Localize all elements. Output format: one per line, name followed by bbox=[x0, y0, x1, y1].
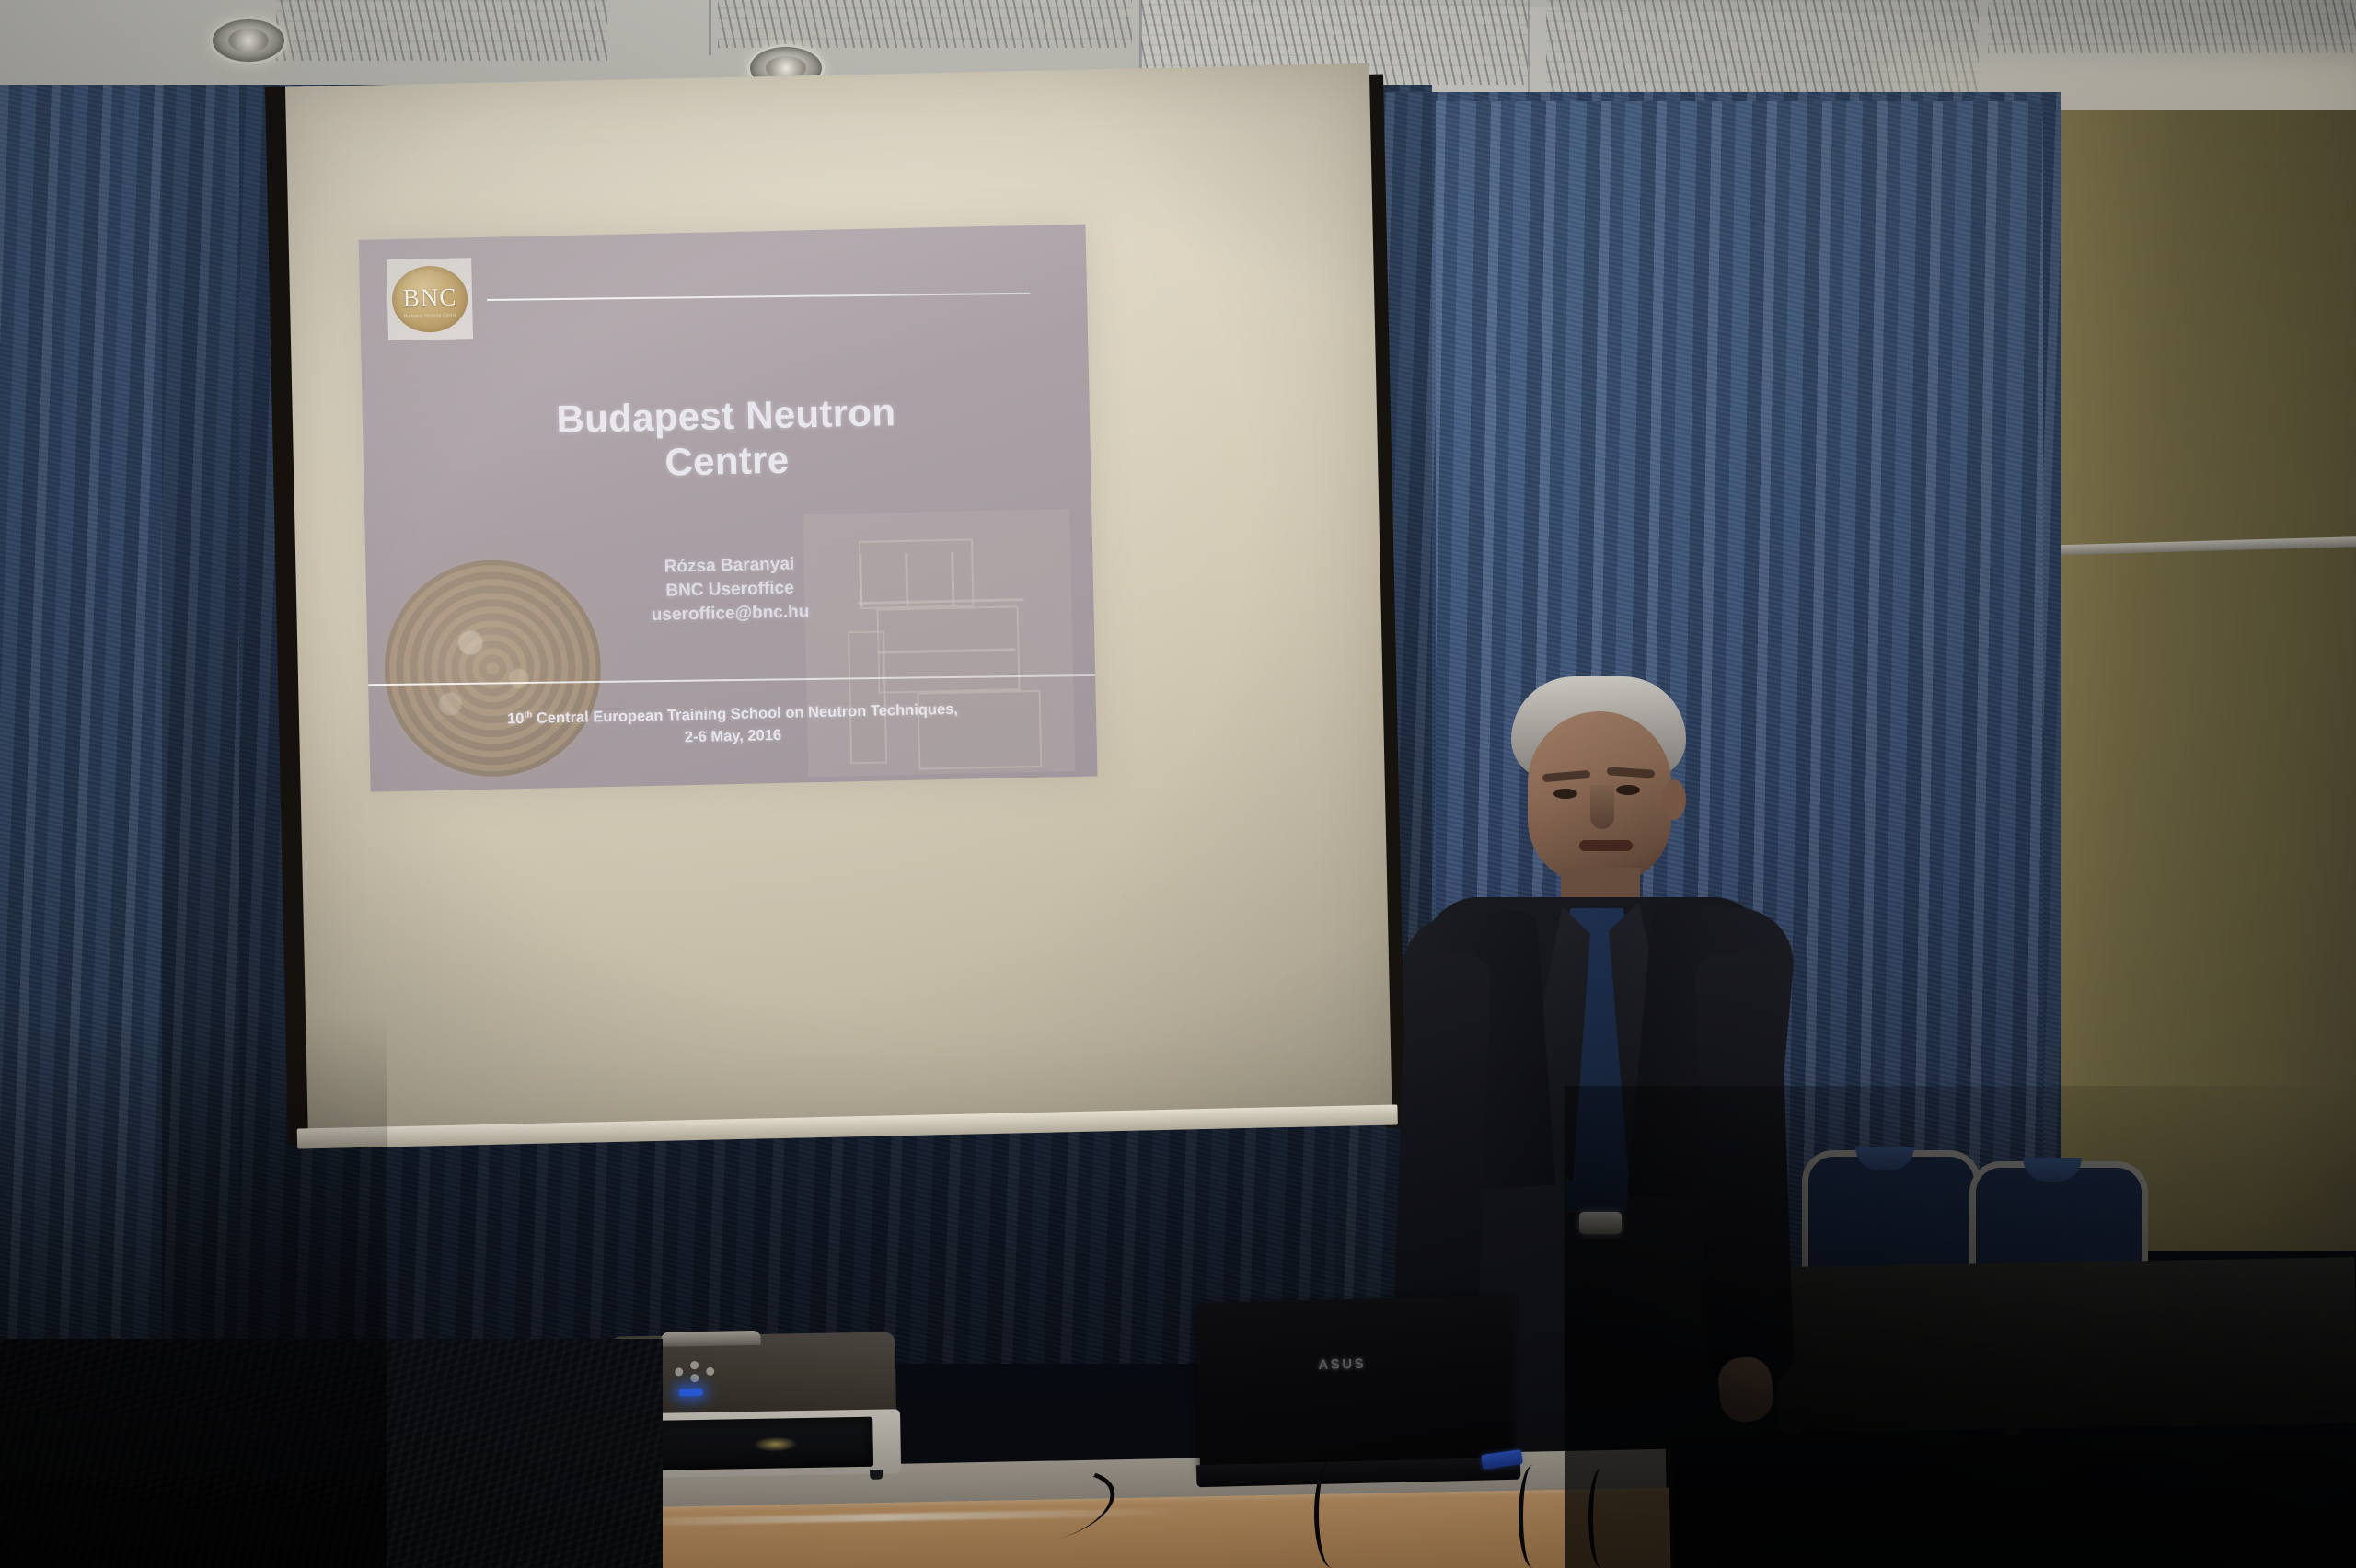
ceiling-acoustic-panel bbox=[1988, 0, 2356, 53]
slide-title: Budapest Neutron Centre bbox=[362, 386, 1091, 492]
presenter-eye bbox=[1553, 789, 1577, 799]
ceiling-acoustic-panel bbox=[718, 0, 1132, 48]
laptop-lid[interactable] bbox=[1196, 1296, 1513, 1470]
bnc-logo-text: BNC bbox=[402, 285, 456, 311]
recessed-downlight-icon bbox=[210, 17, 287, 64]
projector-vent-grille bbox=[642, 1417, 873, 1470]
projector-key-right[interactable] bbox=[706, 1367, 714, 1376]
projection-screen: BNC Budapest Neutron Centre Budapest Neu… bbox=[265, 63, 1406, 1172]
projector-lens-hood bbox=[661, 1331, 760, 1347]
bnc-logo-oval: BNC Budapest Neutron Centre bbox=[391, 265, 468, 333]
laptop[interactable]: ASUS bbox=[1196, 1296, 1514, 1487]
ceiling-acoustic-panel bbox=[276, 0, 607, 61]
projector-power-led-icon bbox=[679, 1389, 703, 1396]
projected-slide: BNC Budapest Neutron Centre Budapest Neu… bbox=[359, 225, 1098, 792]
ceiling-seam bbox=[709, 0, 711, 55]
shadow-overlay-left bbox=[0, 1012, 387, 1568]
laptop-brand-logo: ASUS bbox=[1308, 1355, 1376, 1372]
projector-foot bbox=[870, 1470, 883, 1480]
signal-cable bbox=[1519, 1465, 1547, 1568]
slide-header-rule bbox=[487, 293, 1030, 301]
bnc-logo: BNC Budapest Neutron Centre bbox=[387, 258, 473, 340]
olive-wall-panel bbox=[2034, 110, 2356, 1251]
projector-key-left[interactable] bbox=[675, 1367, 683, 1376]
footer-ordinal: 10 bbox=[507, 710, 525, 727]
conference-room-scene: BNC Budapest Neutron Centre Budapest Neu… bbox=[0, 0, 2356, 1568]
projector-key-up[interactable] bbox=[690, 1361, 699, 1369]
bnc-logo-subtitle: Budapest Neutron Centre bbox=[404, 313, 456, 319]
presenter-ear bbox=[1662, 779, 1686, 820]
presenter-eye bbox=[1616, 785, 1640, 795]
projector-key-down[interactable] bbox=[690, 1374, 699, 1382]
shadow-overlay-right bbox=[1565, 1086, 2356, 1568]
presenter-nose bbox=[1590, 785, 1614, 829]
signal-cable bbox=[1314, 1459, 1350, 1568]
presenter-mouth bbox=[1579, 840, 1633, 851]
projector-keypad[interactable] bbox=[675, 1361, 715, 1382]
